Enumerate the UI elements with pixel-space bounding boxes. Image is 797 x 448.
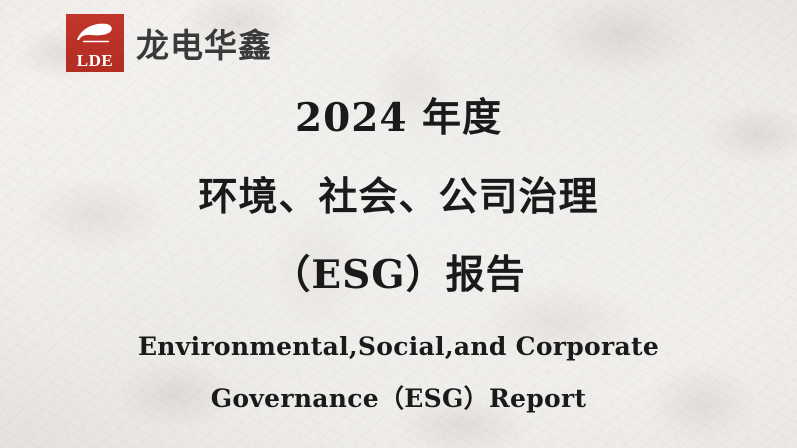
logo-mark-icon: LDE [66,14,124,72]
title-line-esg-report: （ESG）报告 [0,249,797,301]
subtitle-line-1: Environmental,Social,and Corporate [0,330,797,364]
title-line-year: 2024 年度 [0,92,797,144]
page-subtitle: Environmental,Social,and Corporate Gover… [0,330,797,416]
logo-letters: LDE [77,51,113,70]
subtitle-line-2: Governance（ESG）Report [0,382,797,416]
title-line-topic: 环境、社会、公司治理 [0,171,797,223]
logo-swoosh-icon [75,21,115,45]
report-cover-page: LDE 龙电华鑫 2024 年度 环境、社会、公司治理 （ESG）报告 Envi… [0,0,797,448]
company-logo: LDE 龙电华鑫 [66,14,272,72]
company-name: 龙电华鑫 [136,19,272,67]
page-title: 2024 年度 环境、社会、公司治理 （ESG）报告 [0,92,797,301]
